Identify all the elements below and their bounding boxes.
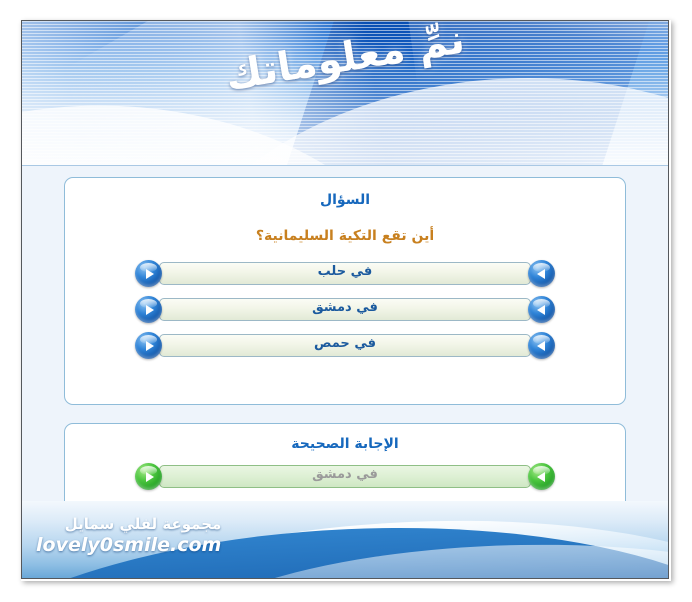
play-circle-right-icon bbox=[135, 463, 162, 490]
footer-website-url: lovely0smile.com bbox=[36, 534, 221, 556]
option-label: في حمص bbox=[135, 336, 555, 351]
triangle-right-glyph bbox=[146, 269, 154, 279]
footer-arabic-name: مجموعة لفلي سمايل bbox=[36, 515, 221, 533]
answer-panel-heading: الإجابة الصحيحة bbox=[65, 436, 625, 452]
triangle-right-glyph bbox=[146, 305, 154, 315]
option-label: في حلب bbox=[135, 264, 555, 279]
play-circle-left-icon[interactable] bbox=[528, 332, 555, 359]
page-background: نمِّ معلوماتك lovely0smile.com السؤال أي… bbox=[0, 0, 692, 602]
play-circle-left-icon bbox=[528, 463, 555, 490]
play-circle-right-icon[interactable] bbox=[135, 260, 162, 287]
footer-branding: مجموعة لفلي سمايل lovely0smile.com bbox=[36, 515, 221, 556]
triangle-right-glyph bbox=[146, 341, 154, 351]
triangle-right-glyph bbox=[146, 472, 154, 482]
answer-row: في دمشق bbox=[135, 463, 555, 490]
option-row[interactable]: في حلب bbox=[135, 260, 555, 287]
triangle-left-glyph bbox=[537, 269, 545, 279]
triangle-left-glyph bbox=[537, 341, 545, 351]
play-circle-right-icon[interactable] bbox=[135, 296, 162, 323]
quiz-card: نمِّ معلوماتك lovely0smile.com السؤال أي… bbox=[21, 20, 669, 579]
footer-banner: مجموعة لفلي سمايل lovely0smile.com bbox=[22, 501, 668, 578]
header-banner: نمِّ معلوماتك bbox=[22, 21, 668, 166]
question-panel: السؤال أين تقع التكية السليمانية؟ في حلب bbox=[64, 177, 626, 405]
option-row[interactable]: في دمشق bbox=[135, 296, 555, 323]
option-row[interactable]: في حمص bbox=[135, 332, 555, 359]
play-circle-right-icon[interactable] bbox=[135, 332, 162, 359]
answer-label: في دمشق bbox=[135, 467, 555, 482]
triangle-left-glyph bbox=[537, 305, 545, 315]
banner-divider bbox=[22, 165, 668, 166]
question-text: أين تقع التكية السليمانية؟ bbox=[65, 228, 625, 244]
triangle-left-glyph bbox=[537, 472, 545, 482]
options-list: في حلب في دمشق bbox=[65, 260, 625, 359]
play-circle-left-icon[interactable] bbox=[528, 260, 555, 287]
play-circle-left-icon[interactable] bbox=[528, 296, 555, 323]
question-panel-heading: السؤال bbox=[65, 192, 625, 208]
option-label: في دمشق bbox=[135, 300, 555, 315]
